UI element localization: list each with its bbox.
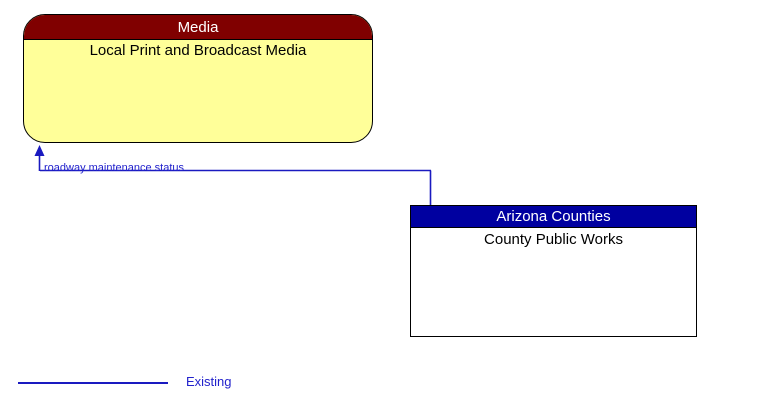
legend: Existing bbox=[18, 372, 278, 396]
node-county-public-works[interactable]: Arizona Counties County Public Works bbox=[410, 205, 697, 337]
legend-label-existing: Existing bbox=[186, 372, 232, 392]
node-media[interactable]: Media Local Print and Broadcast Media bbox=[23, 14, 373, 143]
flow-1-label[interactable]: roadway maintenance status bbox=[44, 162, 184, 175]
node-media-header: Media bbox=[24, 15, 372, 40]
legend-line-existing bbox=[18, 382, 168, 384]
diagram-canvas: Media Local Print and Broadcast Media ro… bbox=[0, 0, 783, 412]
flow-1-arrowhead-icon bbox=[35, 145, 45, 156]
node-county-public-works-label: County Public Works bbox=[411, 230, 696, 250]
node-county-public-works-header: Arizona Counties bbox=[411, 206, 696, 228]
node-media-label: Local Print and Broadcast Media bbox=[24, 41, 372, 61]
